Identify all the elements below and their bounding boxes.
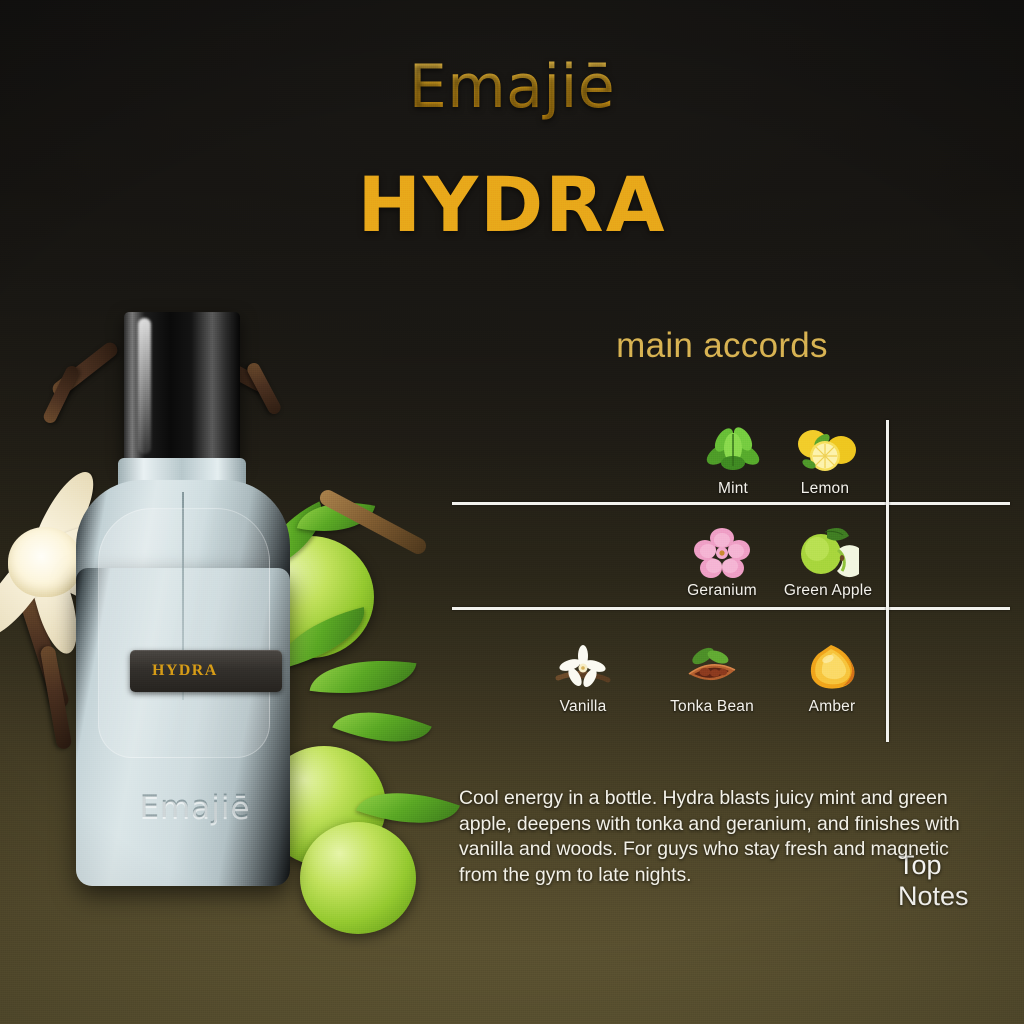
accords-divider-2 bbox=[452, 607, 1010, 610]
note-green-apple[interactable]: Green Apple bbox=[768, 520, 888, 600]
note-geranium[interactable]: Geranium bbox=[662, 520, 782, 600]
note-lemon[interactable]: Lemon bbox=[765, 418, 885, 498]
product-description: Cool energy in a bottle. Hydra blasts ju… bbox=[459, 786, 971, 888]
note-vanilla[interactable]: Vanilla bbox=[523, 636, 643, 716]
green-apple-prop bbox=[300, 822, 416, 934]
note-label: Geranium bbox=[662, 582, 782, 600]
lemon-icon bbox=[765, 418, 885, 476]
geranium-flower-icon bbox=[662, 520, 782, 578]
brand-wordmark: Emajiē bbox=[0, 52, 1024, 122]
note-label: Tonka Bean bbox=[652, 698, 772, 716]
accords-row-base: Vanilla Tonka Bean bbox=[0, 636, 1024, 720]
accords-divider-1 bbox=[452, 502, 1010, 505]
poster-canvas: HYDRA Emajiē Emajiē HYDRA main accords bbox=[0, 0, 1024, 1024]
note-label: Green Apple bbox=[768, 582, 888, 600]
accords-row-top: Mint Lemon bbox=[0, 418, 1024, 502]
accords-row-middle: Geranium Green Apple Middle Notes bbox=[0, 520, 1024, 604]
note-label: Vanilla bbox=[523, 698, 643, 716]
note-tonka-bean[interactable]: Tonka Bean bbox=[652, 636, 772, 716]
product-title: HYDRA bbox=[0, 160, 1024, 249]
tonka-bean-icon bbox=[652, 636, 772, 694]
note-label: Lemon bbox=[765, 480, 885, 498]
vanilla-flower-icon bbox=[523, 636, 643, 694]
note-amber[interactable]: Amber bbox=[772, 636, 892, 716]
amber-resin-icon bbox=[772, 636, 892, 694]
note-label: Amber bbox=[772, 698, 892, 716]
bottle-emboss-logo: Emajiē bbox=[110, 790, 280, 826]
main-accords-heading: main accords bbox=[452, 326, 992, 366]
green-apple-icon bbox=[768, 520, 888, 578]
